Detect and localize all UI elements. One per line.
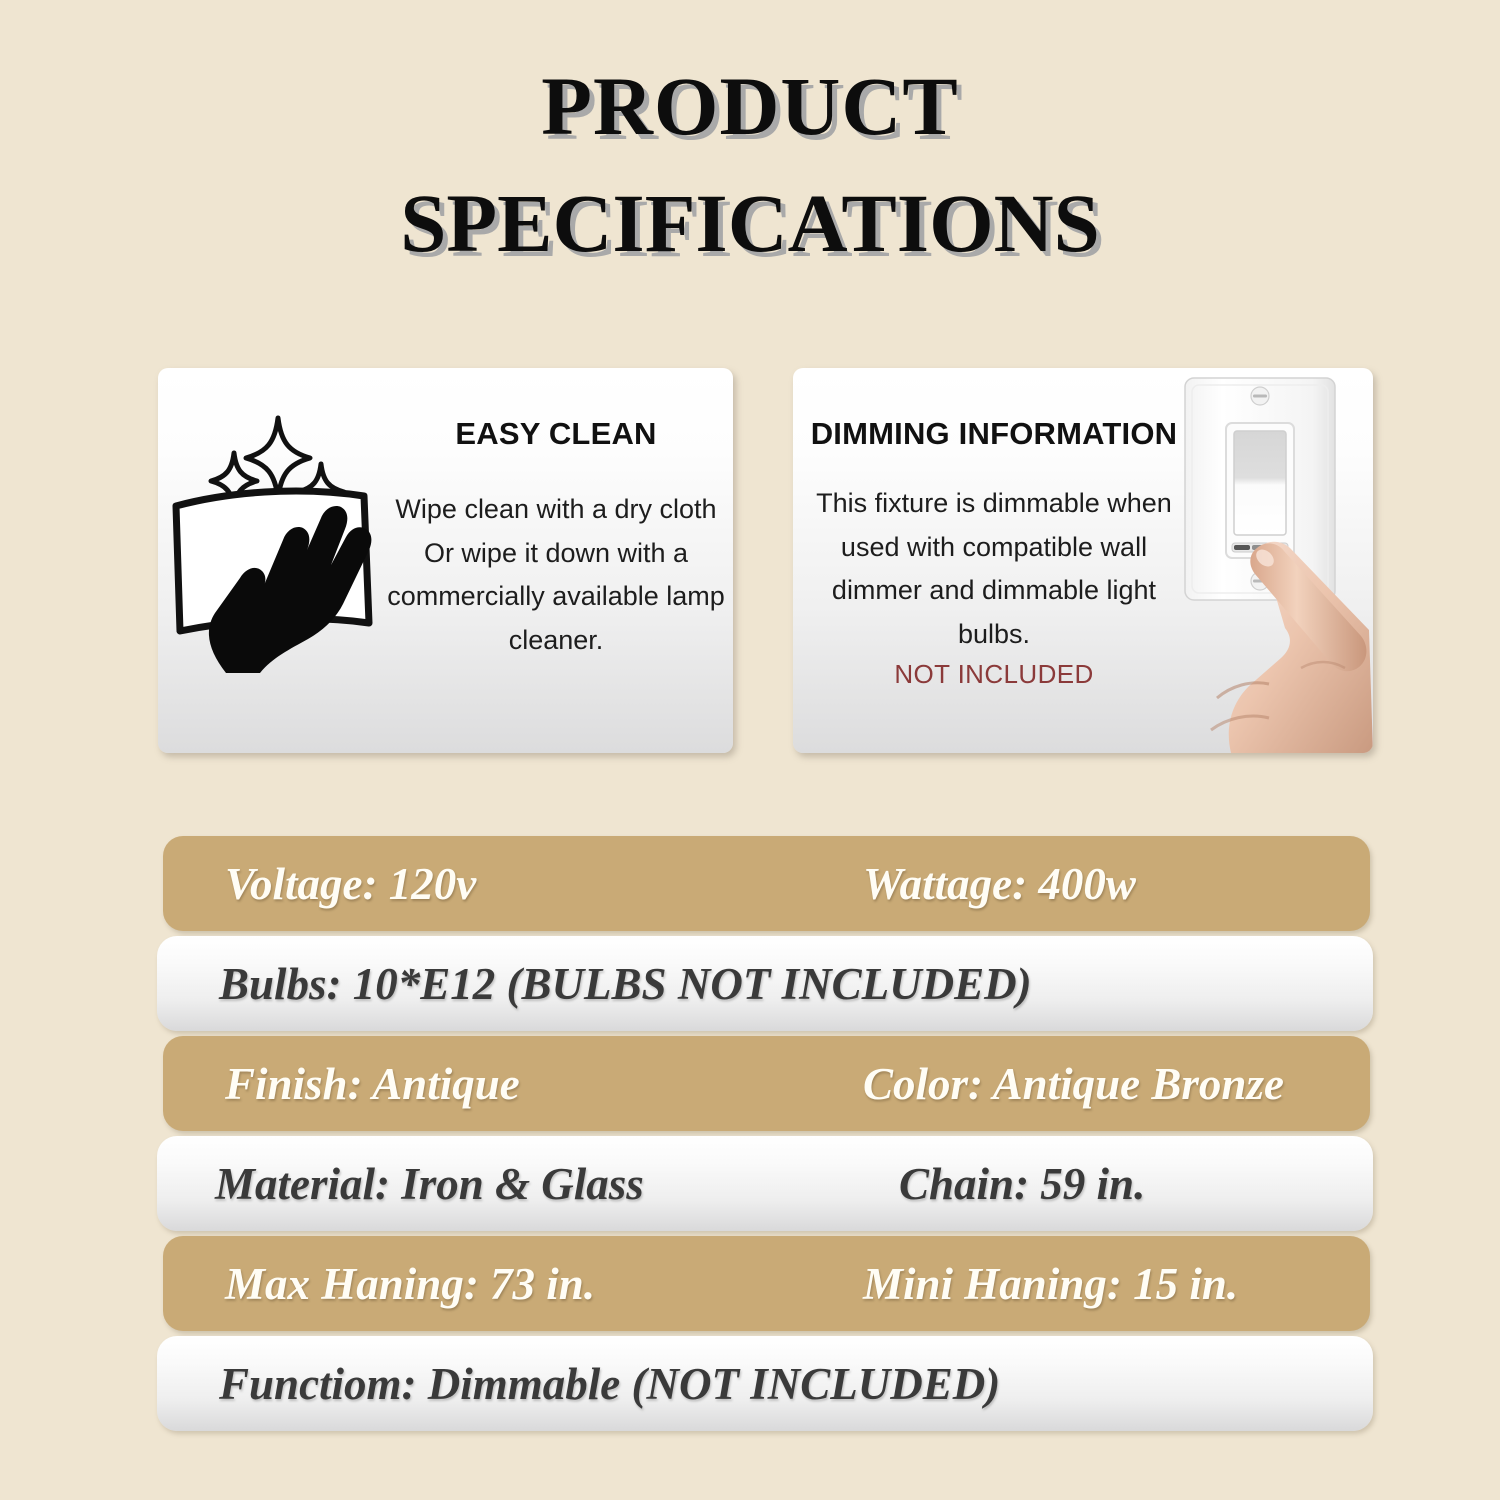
page-title: Product Specifications [0,38,1500,269]
dimming-heading: DIMMING INFORMATION [805,416,1183,452]
spec-bulbs: Bulbs: 10*E12 (BULBS NOT INCLUDED) [219,958,1032,1010]
page-title-line-1: Product [0,38,1500,151]
spec-voltage: Voltage: 120v [225,858,476,910]
spec-finish: Finish: Antique [225,1058,520,1110]
feature-cards: EASY CLEAN Wipe clean with a dry cloth O… [158,368,1373,753]
spec-min-hanging: Mini Haning: 15 in. [863,1258,1238,1310]
easy-clean-card: EASY CLEAN Wipe clean with a dry cloth O… [158,368,733,753]
spec-row-hanging: Max Haning: 73 in. Mini Haning: 15 in. [163,1236,1370,1331]
spec-row-finish-color: Finish: Antique Color: Antique Bronze [163,1036,1370,1131]
hand-wiping-cloth-sparkle-icon [168,408,403,673]
easy-clean-heading: EASY CLEAN [386,416,726,452]
spec-wattage: Wattage: 400w [863,858,1136,910]
spec-row-voltage-wattage: Voltage: 120v Wattage: 400w [163,836,1370,931]
spec-chain: Chain: 59 in. [899,1158,1145,1210]
hand-pressing-wall-dimmer-switch [1173,368,1373,753]
spec-material: Material: Iron & Glass [215,1158,644,1210]
specifications-table: Voltage: 120v Wattage: 400w Bulbs: 10*E1… [0,836,1500,1436]
dimming-text-block: DIMMING INFORMATION This fixture is dimm… [805,416,1183,690]
easy-clean-body: Wipe clean with a dry cloth Or wipe it d… [386,488,726,663]
dimming-information-card: DIMMING INFORMATION This fixture is dimm… [793,368,1373,753]
spec-function: Functiom: Dimmable (NOT INCLUDED) [219,1358,1000,1410]
spec-max-hanging: Max Haning: 73 in. [225,1258,595,1310]
page-title-line-2: Specifications [0,155,1500,268]
spec-row-material-chain: Material: Iron & Glass Chain: 59 in. [157,1136,1373,1231]
easy-clean-text-block: EASY CLEAN Wipe clean with a dry cloth O… [386,416,726,663]
dimming-not-included-note: NOT INCLUDED [805,659,1183,690]
spec-row-bulbs: Bulbs: 10*E12 (BULBS NOT INCLUDED) [157,936,1373,1031]
spec-row-function: Functiom: Dimmable (NOT INCLUDED) [157,1336,1373,1431]
dimming-body: This fixture is dimmable when used with … [805,482,1183,657]
spec-color: Color: Antique Bronze [863,1058,1284,1110]
